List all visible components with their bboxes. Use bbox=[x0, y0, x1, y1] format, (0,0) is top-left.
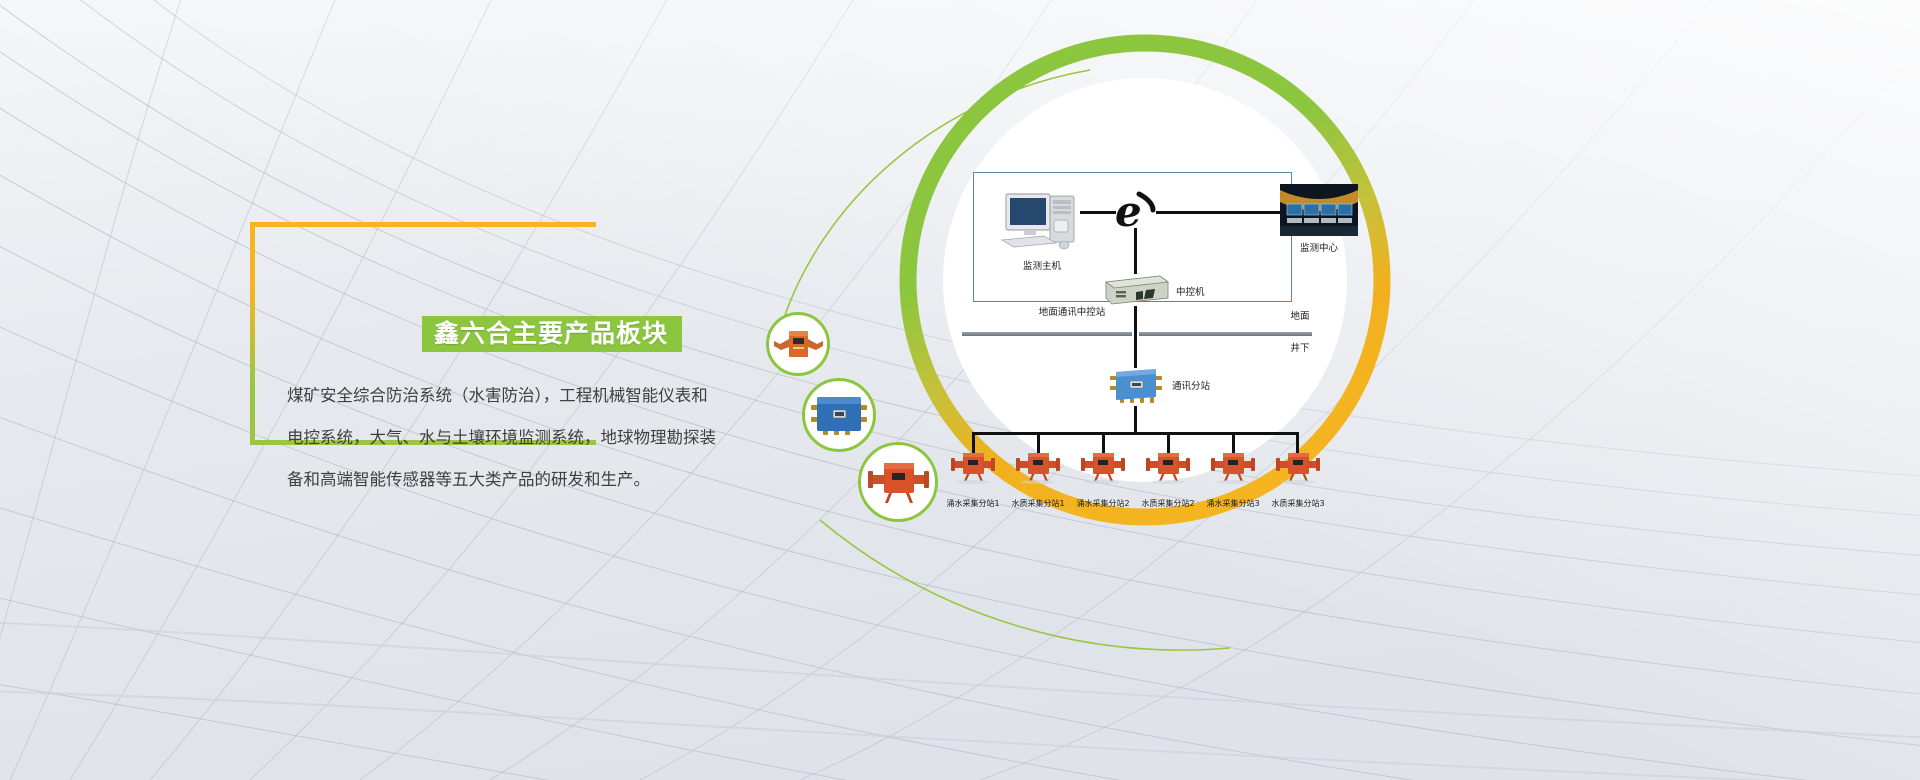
frame-edge-top bbox=[250, 222, 596, 227]
collector-label: 水质采集分站1 bbox=[1006, 498, 1070, 509]
wire-network-to-central-control bbox=[1134, 228, 1137, 274]
node-label-comm-substation: 通讯分站 bbox=[1172, 378, 1210, 392]
product-badge-red-flow-sensor[interactable] bbox=[858, 442, 938, 522]
collector-device-icon bbox=[1210, 450, 1256, 484]
orange-controller-icon bbox=[772, 327, 824, 361]
collector-label: 水质采集分站2 bbox=[1136, 498, 1200, 509]
product-badge-orange-controller[interactable] bbox=[766, 312, 830, 376]
system-architecture-graphic: 监测主机 e bbox=[760, 0, 1920, 780]
node-label-central-control: 中控机 bbox=[1176, 284, 1205, 298]
label-ground-comm-station: 地面通讯中控站 bbox=[992, 304, 1152, 318]
ground-line-left bbox=[962, 332, 1132, 336]
page-title: 鑫六合主要产品板块 bbox=[422, 316, 682, 352]
node-label-monitoring-center: 监测中心 bbox=[1279, 240, 1359, 254]
info-panel-frame: 鑫六合主要产品板块 煤矿安全综合防治系统（水害防治），工程机械智能仪表和 电控系… bbox=[250, 222, 596, 440]
label-underground: 井下 bbox=[1270, 340, 1330, 354]
collector-label: 涌水采集分站3 bbox=[1201, 498, 1265, 509]
node-label-monitoring-host: 监测主机 bbox=[1002, 258, 1082, 272]
collector-device-icon bbox=[1080, 450, 1126, 484]
central-control-icon bbox=[1100, 272, 1170, 308]
description-line-3: 备和高端智能传感器等五大类产品的研发和生产。 bbox=[287, 459, 717, 501]
collector-label: 水质采集分站3 bbox=[1266, 498, 1330, 509]
red-flow-sensor-icon bbox=[866, 459, 930, 505]
collector-device-icon bbox=[1275, 450, 1321, 484]
wire-network-to-center bbox=[1156, 211, 1282, 214]
collector-device-icon bbox=[1015, 450, 1061, 484]
comm-substation-icon bbox=[1108, 366, 1164, 406]
label-surface: 地面 bbox=[1270, 308, 1330, 322]
mine-water-monitoring-diagram: 监测主机 e bbox=[940, 60, 1540, 480]
ground-line-right bbox=[1139, 332, 1312, 336]
monitoring-center-icon bbox=[1280, 184, 1358, 236]
wire-host-to-network bbox=[1080, 211, 1116, 214]
collector-label: 涌水采集分站1 bbox=[941, 498, 1005, 509]
wire-collector-bus bbox=[972, 432, 1298, 435]
collector-device-icon bbox=[950, 450, 996, 484]
description-line-1: 煤矿安全综合防治系统（水害防治），工程机械智能仪表和 bbox=[287, 375, 717, 417]
product-badge-blue-junction-box[interactable] bbox=[802, 378, 876, 452]
collector-label: 涌水采集分站2 bbox=[1071, 498, 1135, 509]
blue-junction-box-icon bbox=[810, 393, 868, 437]
collector-label-row: 涌水采集分站1水质采集分站1涌水采集分站2水质采集分站2涌水采集分站3水质采集分… bbox=[940, 498, 1370, 518]
description-line-2: 电控系统，大气、水与土壤环境监测系统，地球物理勘探装 bbox=[287, 417, 717, 459]
frame-edge-left bbox=[250, 222, 255, 445]
collector-device-icon bbox=[1145, 450, 1191, 484]
panel-description: 煤矿安全综合防治系统（水害防治），工程机械智能仪表和 电控系统，大气、水与土壤环… bbox=[287, 375, 717, 501]
monitoring-host-icon bbox=[998, 188, 1084, 254]
wire-substation-trunk bbox=[1134, 406, 1137, 434]
